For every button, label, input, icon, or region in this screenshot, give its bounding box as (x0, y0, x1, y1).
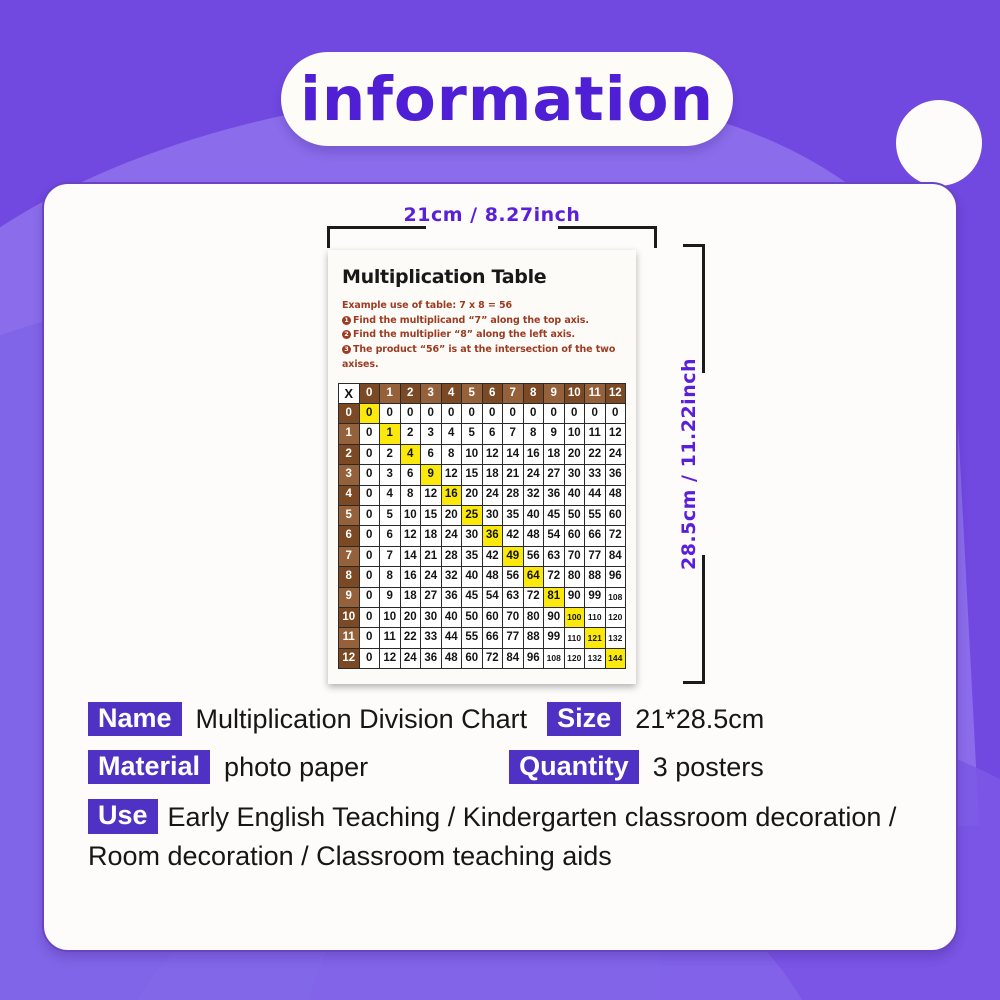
cell-6x12: 72 (605, 526, 626, 546)
cell-0x5: 0 (462, 403, 483, 423)
cell-8x0: 0 (359, 567, 380, 587)
cell-4x5: 20 (462, 485, 483, 505)
cell-0x8: 0 (523, 403, 544, 423)
name-value: Multiplication Division Chart (196, 704, 528, 735)
cell-9x2: 18 (400, 587, 421, 607)
table-row: 110112233445566778899110121132 (339, 628, 626, 648)
cell-5x3: 15 (421, 505, 442, 525)
cell-7x7: 49 (503, 546, 524, 566)
cell-4x6: 24 (482, 485, 503, 505)
cell-1x2: 2 (400, 424, 421, 444)
cell-10x0: 0 (359, 607, 380, 627)
cell-9x5: 45 (462, 587, 483, 607)
cell-2x4: 8 (441, 444, 462, 464)
cell-2x6: 12 (482, 444, 503, 464)
cell-10x6: 60 (482, 607, 503, 627)
cell-11x3: 33 (421, 628, 442, 648)
info-card: 21cm / 8.27inch 28.5cm / 11.22inch Multi… (42, 182, 958, 952)
multiplication-table: X012345678910111200000000000000101234567… (338, 383, 626, 669)
cell-3x10: 30 (564, 465, 585, 485)
cell-12x10: 120 (564, 648, 585, 668)
row-header-10: 10 (339, 607, 360, 627)
info-row-material-quantity: Material photo paper Quantity 3 posters (88, 750, 912, 784)
cell-2x7: 14 (503, 444, 524, 464)
column-header-12: 12 (605, 383, 626, 403)
cell-1x5: 5 (462, 424, 483, 444)
cell-9x0: 0 (359, 587, 380, 607)
table-row: 5051015202530354045505560 (339, 505, 626, 525)
material-tag: Material (88, 750, 210, 784)
table-row: 8081624324048566472808896 (339, 567, 626, 587)
cell-2x8: 16 (523, 444, 544, 464)
height-dimension-label: 28.5cm / 11.22inch (678, 358, 700, 570)
cell-3x0: 0 (359, 465, 380, 485)
cell-1x9: 9 (544, 424, 565, 444)
poster-example-heading: Example use of table: 7 x 8 = 56 (342, 299, 622, 314)
table-row: 1201224364860728496108120132144 (339, 648, 626, 668)
cell-8x3: 24 (421, 567, 442, 587)
cell-7x3: 21 (421, 546, 442, 566)
step-number-icon: 3 (342, 345, 351, 354)
table-row: 30369121518212427303336 (339, 465, 626, 485)
column-header-8: 8 (523, 383, 544, 403)
row-header-7: 7 (339, 546, 360, 566)
cell-6x3: 18 (421, 526, 442, 546)
cell-3x2: 6 (400, 465, 421, 485)
cell-4x1: 4 (380, 485, 401, 505)
cell-1x8: 8 (523, 424, 544, 444)
row-header-0: 0 (339, 403, 360, 423)
table-row: 404812162024283236404448 (339, 485, 626, 505)
cell-3x11: 33 (585, 465, 606, 485)
column-header-2: 2 (400, 383, 421, 403)
cell-4x2: 8 (400, 485, 421, 505)
cell-11x8: 88 (523, 628, 544, 648)
cell-2x11: 22 (585, 444, 606, 464)
cell-4x4: 16 (441, 485, 462, 505)
row-header-1: 1 (339, 424, 360, 444)
cell-4x0: 0 (359, 485, 380, 505)
cell-12x3: 36 (421, 648, 442, 668)
cell-8x1: 8 (380, 567, 401, 587)
cell-5x0: 0 (359, 505, 380, 525)
cell-11x6: 66 (482, 628, 503, 648)
cell-7x6: 42 (482, 546, 503, 566)
cell-9x7: 63 (503, 587, 524, 607)
cell-9x10: 90 (564, 587, 585, 607)
cell-0x0: 0 (359, 403, 380, 423)
cell-7x1: 7 (380, 546, 401, 566)
cell-1x4: 4 (441, 424, 462, 444)
cell-4x3: 12 (421, 485, 442, 505)
cell-0x10: 0 (564, 403, 585, 423)
poster-step-2-text: Find the multiplier “8” along the left a… (353, 329, 575, 340)
cell-3x8: 24 (523, 465, 544, 485)
cell-8x8: 64 (523, 567, 544, 587)
cell-5x10: 50 (564, 505, 585, 525)
row-header-11: 11 (339, 628, 360, 648)
cell-3x5: 15 (462, 465, 483, 485)
column-header-4: 4 (441, 383, 462, 403)
cell-4x10: 40 (564, 485, 585, 505)
cell-8x4: 32 (441, 567, 462, 587)
cell-7x2: 14 (400, 546, 421, 566)
table-corner-cell: X (339, 383, 360, 403)
row-header-4: 4 (339, 485, 360, 505)
cell-7x12: 84 (605, 546, 626, 566)
cell-8x6: 48 (482, 567, 503, 587)
cell-5x7: 35 (503, 505, 524, 525)
row-header-2: 2 (339, 444, 360, 464)
cell-12x12: 144 (605, 648, 626, 668)
use-value: Early English Teaching / Kindergarten cl… (88, 802, 896, 870)
column-header-7: 7 (503, 383, 524, 403)
cell-6x9: 54 (544, 526, 565, 546)
cell-10x9: 90 (544, 607, 565, 627)
cell-11x12: 132 (605, 628, 626, 648)
cell-5x8: 40 (523, 505, 544, 525)
row-header-9: 9 (339, 587, 360, 607)
table-row: 00000000000000 (339, 403, 626, 423)
poster-step-3-text: The product “56” is at the intersection … (342, 344, 615, 370)
cell-9x9: 81 (544, 587, 565, 607)
cell-8x11: 88 (585, 567, 606, 587)
cell-2x0: 0 (359, 444, 380, 464)
cell-10x7: 70 (503, 607, 524, 627)
cell-12x6: 72 (482, 648, 503, 668)
cell-9x3: 27 (421, 587, 442, 607)
cell-11x5: 55 (462, 628, 483, 648)
use-tag: Use (88, 799, 158, 833)
cell-6x11: 66 (585, 526, 606, 546)
cell-0x9: 0 (544, 403, 565, 423)
cell-5x9: 45 (544, 505, 565, 525)
cell-11x0: 0 (359, 628, 380, 648)
cell-1x0: 0 (359, 424, 380, 444)
cell-9x12: 108 (605, 587, 626, 607)
page-title: information (300, 69, 714, 130)
cell-9x8: 72 (523, 587, 544, 607)
cell-0x6: 0 (482, 403, 503, 423)
cell-3x3: 9 (421, 465, 442, 485)
cell-1x10: 10 (564, 424, 585, 444)
cell-7x5: 35 (462, 546, 483, 566)
cell-5x1: 5 (380, 505, 401, 525)
cell-4x7: 28 (503, 485, 524, 505)
row-header-6: 6 (339, 526, 360, 546)
cell-3x9: 27 (544, 465, 565, 485)
cell-0x12: 0 (605, 403, 626, 423)
cell-12x2: 24 (400, 648, 421, 668)
cell-12x11: 132 (585, 648, 606, 668)
poster-title: Multiplication Table (342, 266, 622, 288)
column-header-3: 3 (421, 383, 442, 403)
width-dimension-label: 21cm / 8.27inch (327, 204, 657, 226)
column-header-0: 0 (359, 383, 380, 403)
table-row: 7071421283542495663707784 (339, 546, 626, 566)
column-header-10: 10 (564, 383, 585, 403)
multiplication-grid-wrap: X012345678910111200000000000000101234567… (328, 383, 636, 669)
cell-10x10: 100 (564, 607, 585, 627)
cell-9x11: 99 (585, 587, 606, 607)
cell-5x5: 25 (462, 505, 483, 525)
cell-9x6: 54 (482, 587, 503, 607)
cell-2x2: 4 (400, 444, 421, 464)
cell-4x8: 32 (523, 485, 544, 505)
cell-10x2: 20 (400, 607, 421, 627)
product-info-list: Name Multiplication Division Chart Size … (44, 702, 956, 889)
cell-0x2: 0 (400, 403, 421, 423)
cell-5x11: 55 (585, 505, 606, 525)
poster-step-3: 3The product “56” is at the intersection… (342, 343, 622, 372)
cell-11x10: 110 (564, 628, 585, 648)
cell-6x4: 24 (441, 526, 462, 546)
cell-5x12: 60 (605, 505, 626, 525)
cell-10x1: 10 (380, 607, 401, 627)
cell-2x12: 24 (605, 444, 626, 464)
cell-5x6: 30 (482, 505, 503, 525)
cell-8x10: 80 (564, 567, 585, 587)
header-title-pill: information (281, 52, 733, 146)
table-row: 6061218243036424854606672 (339, 526, 626, 546)
cell-2x10: 20 (564, 444, 585, 464)
cell-7x8: 56 (523, 546, 544, 566)
cell-1x1: 1 (380, 424, 401, 444)
cell-9x4: 36 (441, 587, 462, 607)
cell-3x7: 21 (503, 465, 524, 485)
cell-8x12: 96 (605, 567, 626, 587)
cell-1x6: 6 (482, 424, 503, 444)
cell-10x3: 30 (421, 607, 442, 627)
width-dimension-bracket (327, 226, 657, 248)
cell-5x4: 20 (441, 505, 462, 525)
cell-6x10: 60 (564, 526, 585, 546)
column-header-5: 5 (462, 383, 483, 403)
info-row-use: UseEarly English Teaching / Kindergarten… (88, 798, 912, 875)
cell-1x3: 3 (421, 424, 442, 444)
step-number-icon: 2 (342, 330, 351, 339)
width-dimension-annotation: 21cm / 8.27inch (327, 204, 657, 248)
cell-11x11: 121 (585, 628, 606, 648)
cell-8x9: 72 (544, 567, 565, 587)
cell-12x1: 12 (380, 648, 401, 668)
cell-3x4: 12 (441, 465, 462, 485)
table-row: 100102030405060708090100110120 (339, 607, 626, 627)
quantity-value: 3 posters (653, 752, 764, 783)
cell-7x9: 63 (544, 546, 565, 566)
cell-6x5: 30 (462, 526, 483, 546)
cell-11x7: 77 (503, 628, 524, 648)
cell-1x7: 7 (503, 424, 524, 444)
size-value: 21*28.5cm (635, 704, 764, 735)
cell-8x7: 56 (503, 567, 524, 587)
cell-11x2: 22 (400, 628, 421, 648)
table-row: 10123456789101112 (339, 424, 626, 444)
cell-1x11: 11 (585, 424, 606, 444)
cell-2x5: 10 (462, 444, 483, 464)
cell-2x1: 2 (380, 444, 401, 464)
poster-step-1: 1Find the multiplicand “7” along the top… (342, 314, 622, 329)
quantity-tag: Quantity (509, 750, 639, 784)
cell-10x8: 80 (523, 607, 544, 627)
cell-3x6: 18 (482, 465, 503, 485)
cell-0x3: 0 (421, 403, 442, 423)
cell-11x4: 44 (441, 628, 462, 648)
cell-12x5: 60 (462, 648, 483, 668)
step-number-icon: 1 (342, 316, 351, 325)
column-header-1: 1 (380, 383, 401, 403)
cell-4x12: 48 (605, 485, 626, 505)
cell-2x3: 6 (421, 444, 442, 464)
cell-5x2: 10 (400, 505, 421, 525)
cell-6x6: 36 (482, 526, 503, 546)
material-value: photo paper (224, 752, 368, 783)
row-header-3: 3 (339, 465, 360, 485)
cell-6x7: 42 (503, 526, 524, 546)
cell-0x7: 0 (503, 403, 524, 423)
cell-10x11: 110 (585, 607, 606, 627)
page-background: information 21cm / 8.27inch 28.5cm / 11.… (0, 0, 1000, 1000)
poster-step-1-text: Find the multiplicand “7” along the top … (353, 315, 589, 326)
row-header-5: 5 (339, 505, 360, 525)
poster-step-2: 2Find the multiplier “8” along the left … (342, 328, 622, 343)
cell-6x2: 12 (400, 526, 421, 546)
table-header-row: X0123456789101112 (339, 383, 626, 403)
row-header-8: 8 (339, 567, 360, 587)
cell-7x0: 0 (359, 546, 380, 566)
cell-3x1: 3 (380, 465, 401, 485)
cell-6x1: 6 (380, 526, 401, 546)
cell-4x9: 36 (544, 485, 565, 505)
cell-6x8: 48 (523, 526, 544, 546)
cell-3x12: 36 (605, 465, 626, 485)
column-header-11: 11 (585, 383, 606, 403)
cell-1x12: 12 (605, 424, 626, 444)
cell-7x4: 28 (441, 546, 462, 566)
product-poster-preview: Multiplication Table Example use of tabl… (328, 250, 636, 684)
cell-10x12: 120 (605, 607, 626, 627)
cell-12x4: 48 (441, 648, 462, 668)
cell-11x9: 99 (544, 628, 565, 648)
cell-7x10: 70 (564, 546, 585, 566)
cell-4x11: 44 (585, 485, 606, 505)
size-tag: Size (547, 702, 621, 736)
cell-8x2: 16 (400, 567, 421, 587)
cell-10x4: 40 (441, 607, 462, 627)
cell-12x0: 0 (359, 648, 380, 668)
cell-7x11: 77 (585, 546, 606, 566)
table-row: 90918273645546372819099108 (339, 587, 626, 607)
poster-text-block: Multiplication Table Example use of tabl… (328, 250, 636, 373)
cell-9x1: 9 (380, 587, 401, 607)
cell-2x9: 18 (544, 444, 565, 464)
row-header-12: 12 (339, 648, 360, 668)
cell-6x0: 0 (359, 526, 380, 546)
name-tag: Name (88, 702, 182, 736)
column-header-9: 9 (544, 383, 565, 403)
column-header-6: 6 (482, 383, 503, 403)
cell-0x4: 0 (441, 403, 462, 423)
cell-12x8: 96 (523, 648, 544, 668)
height-dimension-annotation: 28.5cm / 11.22inch (661, 244, 705, 684)
use-line: UseEarly English Teaching / Kindergarten… (88, 798, 912, 875)
cell-11x1: 11 (380, 628, 401, 648)
table-row: 2024681012141618202224 (339, 444, 626, 464)
cell-12x7: 84 (503, 648, 524, 668)
cell-0x1: 0 (380, 403, 401, 423)
decorative-circle (896, 100, 982, 186)
cell-0x11: 0 (585, 403, 606, 423)
info-row-name-size: Name Multiplication Division Chart Size … (88, 702, 912, 736)
cell-10x5: 50 (462, 607, 483, 627)
cell-8x5: 40 (462, 567, 483, 587)
cell-12x9: 108 (544, 648, 565, 668)
